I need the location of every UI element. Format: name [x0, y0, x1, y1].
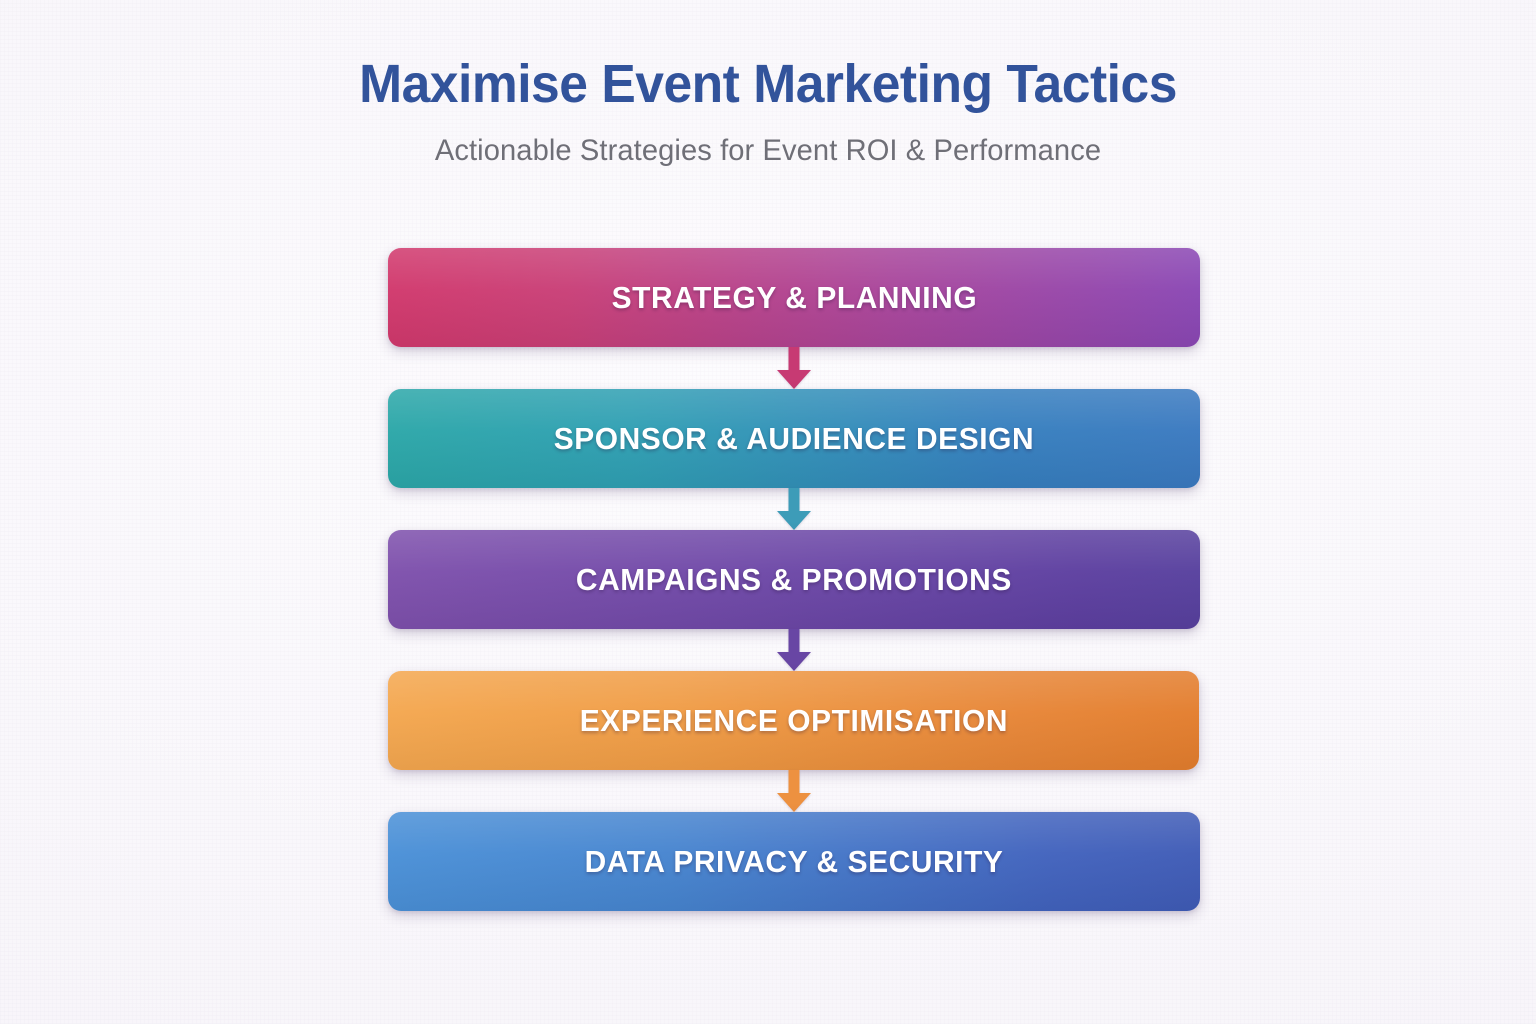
flow-bar-label: Data Privacy & Security: [585, 844, 1004, 880]
flow-bar-campaigns-promotions[interactable]: Campaigns & Promotions: [388, 530, 1200, 629]
flow-step-1: Strategy & Planning: [388, 248, 1200, 389]
arrow-down-icon: [777, 770, 811, 812]
page-subtitle: Actionable Strategies for Event ROI & Pe…: [23, 134, 1513, 169]
flow-step-5: Data Privacy & Security: [388, 812, 1200, 911]
arrow-down-icon: [777, 488, 811, 530]
header: Maximise Event Marketing Tactics Actiona…: [0, 56, 1536, 169]
flow-connector-1: [388, 347, 1200, 389]
arrow-down-icon: [777, 629, 811, 671]
flow-bar-label: Sponsor & Audience Design: [554, 421, 1034, 457]
flow-connector-3: [388, 629, 1200, 671]
page-title: Maximise Event Marketing Tactics: [35, 56, 1502, 112]
flow-step-2: Sponsor & Audience Design: [388, 389, 1200, 530]
flow-bar-label: Strategy & Planning: [611, 280, 977, 316]
flow-bar-sponsor-audience-design[interactable]: Sponsor & Audience Design: [388, 389, 1200, 488]
flow-bar-data-privacy-security[interactable]: Data Privacy & Security: [388, 812, 1200, 911]
process-flow: Strategy & Planning Sponsor & Audience D…: [388, 248, 1200, 911]
flow-step-4: Experience Optimisation: [388, 671, 1200, 812]
arrow-down-icon: [777, 347, 811, 389]
infographic-canvas: Maximise Event Marketing Tactics Actiona…: [0, 0, 1536, 1024]
flow-bar-strategy-planning[interactable]: Strategy & Planning: [388, 248, 1200, 347]
flow-bar-label: Experience Optimisation: [579, 703, 1007, 739]
flow-connector-4: [388, 770, 1200, 812]
flow-bar-label: Campaigns & Promotions: [576, 562, 1012, 598]
flow-bar-experience-optimisation[interactable]: Experience Optimisation: [388, 671, 1199, 770]
flow-step-3: Campaigns & Promotions: [388, 530, 1200, 671]
flow-connector-2: [388, 488, 1200, 530]
